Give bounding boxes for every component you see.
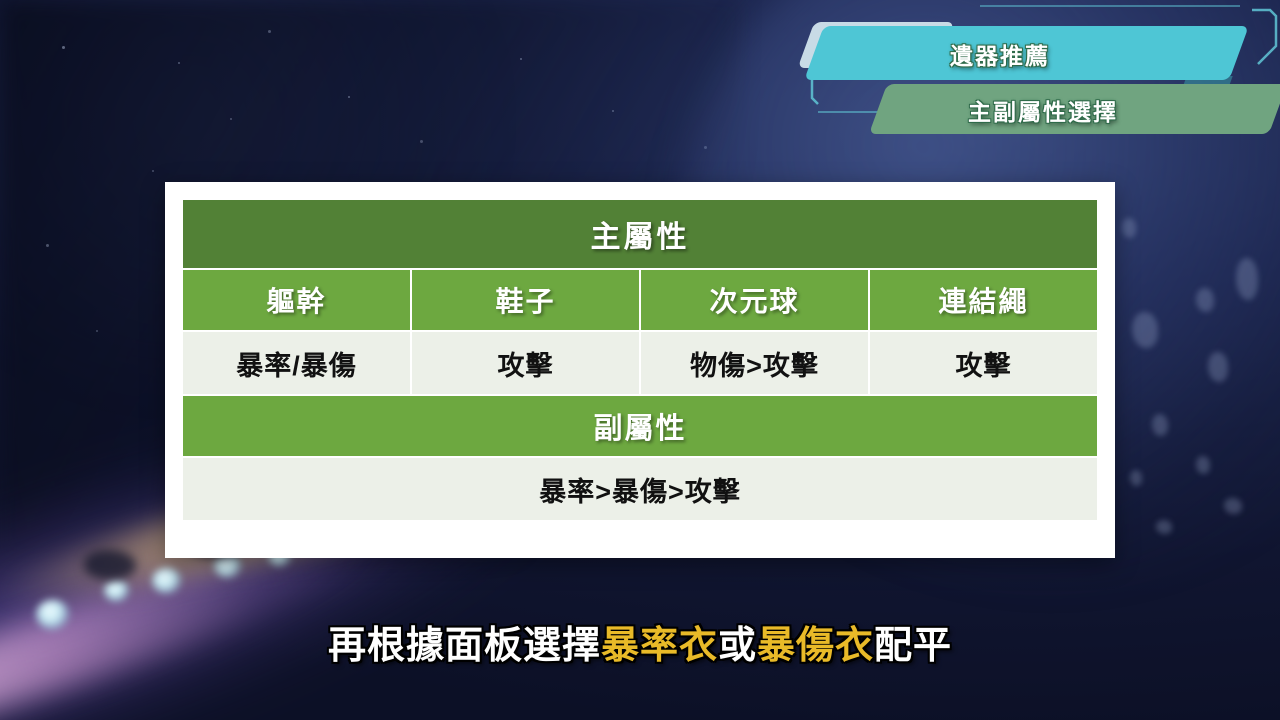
asteroid xyxy=(1196,288,1214,312)
star xyxy=(152,170,154,172)
star xyxy=(46,244,49,247)
column-header-sphere: 次元球 xyxy=(641,270,868,330)
star xyxy=(96,330,98,332)
star xyxy=(178,62,180,64)
title-banner-group: 遺器推薦 主副屬性選擇 xyxy=(800,0,1280,150)
star xyxy=(612,110,614,112)
caption-part-2: 或 xyxy=(718,625,757,667)
value-feet: 攻擊 xyxy=(412,332,639,394)
value-rope: 攻擊 xyxy=(870,332,1097,394)
caption-highlight-1: 暴率衣 xyxy=(601,625,718,667)
table-row-values: 暴率/暴傷 攻擊 物傷>攻擊 攻擊 xyxy=(183,332,1097,394)
column-header-feet: 鞋子 xyxy=(412,270,639,330)
asteroid xyxy=(1196,456,1210,474)
caption-part-1: 再根據面板選擇 xyxy=(328,625,601,667)
table-row-sub-header: 副屬性 xyxy=(183,396,1097,456)
column-header-body: 軀幹 xyxy=(183,270,410,330)
debris-rock xyxy=(84,550,136,580)
star xyxy=(704,146,707,149)
column-header-rope: 連結繩 xyxy=(870,270,1097,330)
asteroid xyxy=(1122,218,1136,238)
stats-table-card: 主屬性 軀幹 鞋子 次元球 連結繩 暴率/暴傷 攻擊 物傷>攻擊 攻擊 副屬性 … xyxy=(165,182,1115,558)
table-row-main-header: 主屬性 xyxy=(183,200,1097,268)
star xyxy=(62,46,65,49)
asteroid xyxy=(1236,258,1258,300)
star xyxy=(520,58,522,60)
sub-stat-priority: 暴率>暴傷>攻擊 xyxy=(183,458,1097,520)
star xyxy=(420,140,423,143)
asteroid xyxy=(1130,470,1142,486)
table-row-column-headers: 軀幹 鞋子 次元球 連結繩 xyxy=(183,270,1097,330)
sub-stat-header: 副屬性 xyxy=(183,396,1097,456)
glow-orb xyxy=(104,580,130,602)
relic-stats-table: 主屬性 軀幹 鞋子 次元球 連結繩 暴率/暴傷 攻擊 物傷>攻擊 攻擊 副屬性 … xyxy=(181,198,1099,522)
star xyxy=(268,30,271,33)
asteroid xyxy=(1156,520,1172,534)
table-row-sub-value: 暴率>暴傷>攻擊 xyxy=(183,458,1097,520)
main-stat-header: 主屬性 xyxy=(183,200,1097,268)
asteroid xyxy=(1152,414,1168,436)
asteroid xyxy=(1132,312,1158,348)
banner-title-secondary: 主副屬性選擇 xyxy=(968,93,1118,127)
star xyxy=(348,96,350,98)
value-sphere: 物傷>攻擊 xyxy=(641,332,868,394)
caption-highlight-2: 暴傷衣 xyxy=(757,625,874,667)
asteroid xyxy=(1224,498,1242,514)
asteroid xyxy=(1208,352,1228,382)
caption-subtitle: 再根據面板選擇暴率衣或暴傷衣配平 xyxy=(0,614,1280,669)
glow-orb xyxy=(152,568,182,594)
caption-part-3: 配平 xyxy=(874,625,952,667)
banner-title-primary: 遺器推薦 xyxy=(950,37,1050,71)
star xyxy=(230,118,232,120)
value-body: 暴率/暴傷 xyxy=(183,332,410,394)
